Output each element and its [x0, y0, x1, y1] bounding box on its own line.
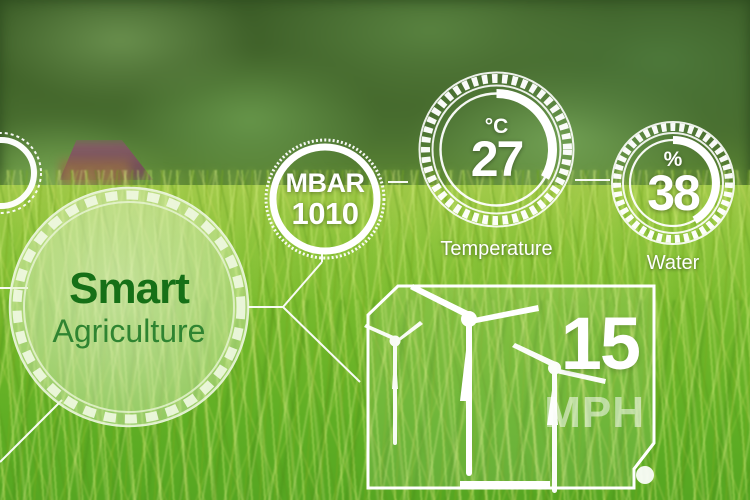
gauge-water-readout: % 38: [608, 118, 738, 248]
gauge-pressure-value: 1010: [292, 198, 359, 229]
wind-speed-unit: MPH: [544, 391, 645, 435]
gauge-temperature-value: 27: [471, 136, 523, 182]
gauge-water[interactable]: % 38 Water: [608, 118, 738, 248]
wind-speed-panel[interactable]: 15 MPH: [362, 283, 657, 500]
wind-panel-status-dot: [636, 466, 654, 484]
gauge-temperature[interactable]: °C 27 Temperature: [415, 68, 578, 231]
gauge-temperature-readout: °C 27: [415, 68, 578, 231]
gauge-water-value: 38: [647, 170, 699, 216]
wind-panel-bottom-bar: [460, 481, 550, 489]
gauge-pressure[interactable]: MBAR 1010: [262, 136, 388, 262]
smart-agriculture-badge[interactable]: Smart Agriculture: [10, 188, 248, 426]
brand-subtitle: Agriculture: [53, 315, 206, 347]
brand-title: Smart: [69, 267, 189, 311]
gauge-pressure-unit: MBAR: [286, 169, 365, 197]
gauge-pressure-readout: MBAR 1010: [262, 136, 388, 262]
gauge-water-label: Water: [608, 252, 738, 275]
wind-speed-value: 15: [561, 307, 639, 381]
dashboard-scene: Smart Agriculture MBAR 1010 °C 27 Temper…: [0, 0, 750, 500]
gauge-temperature-label: Temperature: [415, 238, 578, 261]
